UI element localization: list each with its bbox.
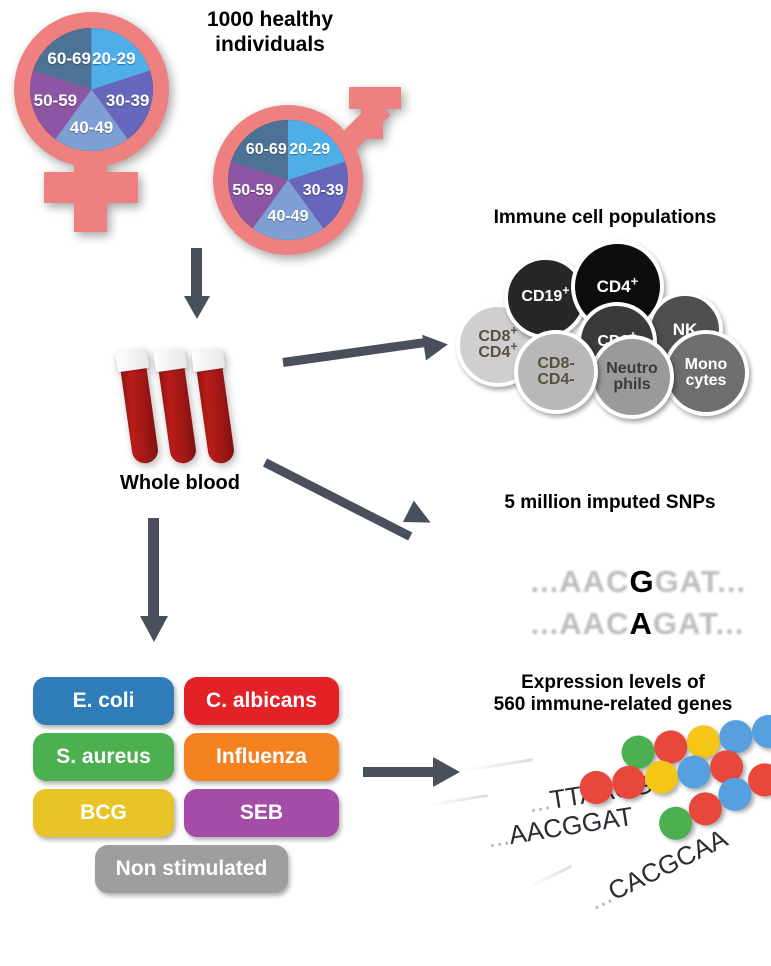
female-symbol: 20-2930-3940-4950-5960-69 [8,12,178,237]
pie-slice-label-40-49: 40-49 [268,208,309,226]
cell-label: Neutrophils [606,361,658,394]
pie-slice-label-30-39: 30-39 [106,91,149,111]
stimulus-c-albicans[interactable]: C. albicans [184,677,339,725]
pie-slice-label-20-29: 20-29 [289,141,330,159]
cell-label: Monocytes [685,357,728,390]
immune-cell-monocytes: Monocytes [663,330,749,416]
arrow-shaft [363,767,435,777]
arrow-blood-to-snps [265,448,460,548]
immune-cell-cd8neg-cd4neg: CD8-CD4- [514,330,598,414]
tube-body [196,362,236,465]
snp-suffix: GAT... [653,606,745,641]
snp-sequences: ...AACGGAT... ...AACAGAT... [470,528,760,618]
immune-cell-cluster: CD8+CD4+ CD19+ CD4+ NK CD8+ Monocytes Ne… [455,240,755,420]
arrow-shaft [282,338,428,367]
immune-cell-populations-title: Immune cell populations [450,207,760,229]
snp-variant: A [629,606,652,641]
male-arrow-head-h [349,87,401,109]
gene-bead [750,713,771,751]
stimulus-bcg[interactable]: BCG [33,789,174,837]
expression-title-line1: Expression levels of [460,672,766,694]
pie-slice-label-40-49: 40-49 [70,118,113,138]
stimulus-e-coli[interactable]: E. coli [33,677,174,725]
tube-body [120,362,160,465]
expression-strands: ...TTAACGG ...AACGGAT ...CACGCAA [440,735,771,915]
arrow-head [140,616,168,642]
pie-slice-label-60-69: 60-69 [246,141,287,159]
arrow-blood-to-stimuli [130,518,180,648]
arrow-shaft [191,248,202,300]
cell-label: CD8-CD4- [537,356,574,389]
cell-label: CD8+CD4+ [478,329,517,362]
stimulus-influenza[interactable]: Influenza [184,733,339,781]
expression-title: Expression levels of 560 immune-related … [460,672,766,717]
arrow-shaft [148,518,159,620]
pie-slice-label-50-59: 50-59 [34,91,77,111]
snp-row: ...AACAGAT... [492,570,744,678]
male-symbol: 20-2930-3940-4950-5960-69 [205,85,410,260]
arrow-head [403,501,436,534]
pie-slice-label-30-39: 30-39 [303,182,344,200]
arrow-head [422,331,449,360]
expression-title-line2: 560 immune-related genes [460,694,766,716]
whole-blood-label: Whole blood [80,472,280,496]
cell-label: CD19+ [521,289,569,305]
pie-slice-label-60-69: 60-69 [47,49,90,69]
gene-bead [675,753,713,791]
stimulus-s-aureus[interactable]: S. aureus [33,733,174,781]
immune-cell-neutrophils: Neutrophils [590,335,674,419]
arrow-cohort-to-blood [180,248,220,320]
snps-title: 5 million imputed SNPs [460,492,760,514]
arrow-head [184,296,210,319]
female-crossbar [44,172,138,203]
cohort-title: 1000 healthy individuals [170,8,370,58]
cell-label: CD4+ [597,278,639,295]
stimulus-seb[interactable]: SEB [184,789,339,837]
whole-blood-tubes [112,330,242,465]
snp-prefix: ...AAC [530,606,629,641]
arrow-blood-to-immune-cells [283,330,458,380]
tube-body [158,362,198,465]
stimuli-panel: E. coli C. albicans S. aureus Influenza … [33,677,343,895]
pie-slice-label-50-59: 50-59 [232,182,273,200]
arrow-shaft [263,458,412,540]
stimulus-non-stimulated[interactable]: Non stimulated [95,845,288,893]
gene-bead [643,758,681,796]
pie-slice-label-20-29: 20-29 [92,49,135,69]
